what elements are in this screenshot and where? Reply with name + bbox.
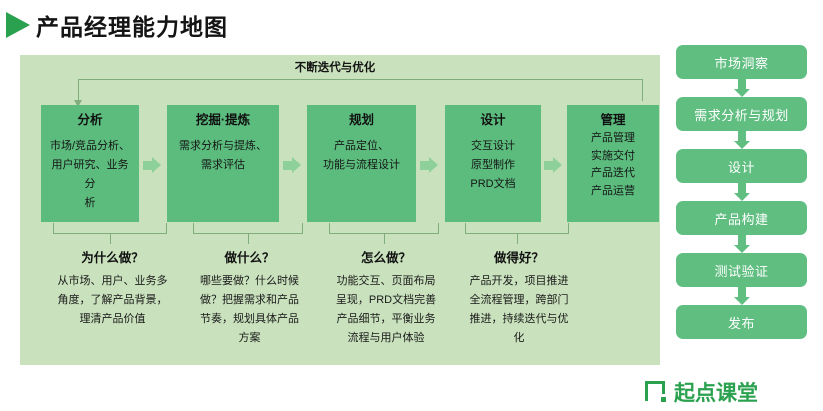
brand-logo-text: 起点课堂 (674, 377, 758, 407)
sidebar-step-product-build[interactable]: 产品构建 (676, 201, 807, 235)
arrow-down-icon (676, 183, 807, 201)
question-line: 角度，了解产品背景， (45, 291, 180, 310)
brace-connector (193, 223, 303, 243)
question-line: 全流程管理，跨部门 (459, 291, 579, 310)
stage-box-design[interactable]: 设计 交互设计 原型制作 PRD文档 (445, 105, 541, 222)
stage-line: 需求评估 (174, 156, 272, 175)
arrow-down-icon (676, 131, 807, 149)
stage-line: 产品运营 (574, 183, 652, 201)
question-line: 功能交互、页面布局 (321, 272, 451, 291)
question-line: 流程与用户体验 (321, 329, 451, 348)
stage-box-mining[interactable]: 挖掘·提炼 需求分析与提炼、 需求评估 (167, 105, 279, 222)
page-title: 产品经理能力地图 (36, 8, 228, 42)
question-line: 化 (459, 329, 579, 348)
question-line: 从市场、用户、业务多 (45, 272, 180, 291)
brace-connector (465, 223, 569, 243)
question-block-well: 做得好？ 产品开发，项目推进 全流程管理，跨部门 推进，持续迭代与优 化 (459, 247, 579, 348)
question-line: 产品细节，平衡业务 (321, 310, 451, 329)
stage-title: 分析 (41, 112, 139, 128)
loop-label: 不断迭代与优化 (275, 60, 395, 77)
stage-line: 产品定位、 (314, 137, 409, 156)
question-title: 怎么做？ (321, 247, 451, 266)
arrow-right-icon (420, 157, 438, 173)
brace-connector (53, 223, 167, 243)
stage-lines: 交互设计 原型制作 PRD文档 (445, 137, 541, 194)
question-body: 哪些要做？什么时候 做？把握需求和产品 节奏，规划具体产品 方案 (187, 272, 312, 348)
question-title: 为什么做？ (45, 247, 180, 266)
sidebar-step-release[interactable]: 发布 (676, 305, 807, 339)
arrow-right-icon (544, 157, 562, 173)
bracket-magnifier-icon (645, 381, 668, 403)
arrow-down-icon (676, 235, 807, 253)
brace-connector (329, 223, 439, 243)
stage-lines: 产品定位、 功能与流程设计 (307, 137, 416, 175)
stage-line: PRD文档 (452, 175, 534, 194)
stage-title: 规划 (307, 112, 416, 128)
sidebar-step-design[interactable]: 设计 (676, 149, 807, 183)
question-block-how: 怎么做？ 功能交互、页面布局 呈现，PRD文档完善 产品细节，平衡业务 流程与用… (321, 247, 451, 348)
capability-map-page: 产品经理能力地图 不断迭代与优化 分析 市场/竞品分析、 用户研究、业务分 析 (0, 0, 823, 411)
stage-line: 原型制作 (452, 156, 534, 175)
arrow-down-icon (676, 287, 807, 305)
sidebar-step-test-verify[interactable]: 测试验证 (676, 253, 807, 287)
question-line: 推进，持续迭代与优 (459, 310, 579, 329)
stage-line: 产品管理 (574, 130, 652, 148)
stage-lines: 市场/竞品分析、 用户研究、业务分 析 (41, 137, 139, 213)
lifecycle-sidebar: 市场洞察 需求分析与规划 设计 产品构建 测试验证 发布 (676, 45, 807, 339)
question-block-what: 做什么？ 哪些要做？什么时候 做？把握需求和产品 节奏，规划具体产品 方案 (187, 247, 312, 348)
stage-line: 功能与流程设计 (314, 156, 409, 175)
question-block-why: 为什么做？ 从市场、用户、业务多 角度，了解产品背景， 理清产品价值 (45, 247, 180, 329)
stage-line: 实施交付 (574, 148, 652, 166)
arrow-right-icon (143, 157, 161, 173)
brand-logo: 起点课堂 (645, 379, 758, 405)
stage-line: 需求分析与提炼、 (174, 137, 272, 156)
main-flow-panel: 不断迭代与优化 分析 市场/竞品分析、 用户研究、业务分 析 挖掘·提炼 需求 (20, 55, 660, 365)
sidebar-step-market-insight[interactable]: 市场洞察 (676, 45, 807, 79)
question-body: 从市场、用户、业务多 角度，了解产品背景， 理清产品价值 (45, 272, 180, 329)
stage-line: 市场/竞品分析、 (48, 137, 132, 156)
arrow-right-icon (283, 157, 301, 173)
question-line: 理清产品价值 (45, 310, 180, 329)
question-line: 呈现，PRD文档完善 (321, 291, 451, 310)
stage-lines: 需求分析与提炼、 需求评估 (167, 137, 279, 175)
brace-connectors (41, 223, 641, 245)
question-line: 做？把握需求和产品 (187, 291, 312, 310)
sidebar-step-requirements-planning[interactable]: 需求分析与规划 (676, 97, 807, 131)
question-line: 哪些要做？什么时候 (187, 272, 312, 291)
question-body: 产品开发，项目推进 全流程管理，跨部门 推进，持续迭代与优 化 (459, 272, 579, 348)
stage-box-management[interactable]: 管理 产品管理 实施交付 产品迭代 产品运营 (567, 105, 659, 222)
question-title: 做什么？ (187, 247, 312, 266)
stage-box-analysis[interactable]: 分析 市场/竞品分析、 用户研究、业务分 析 (41, 105, 139, 222)
stage-line: 交互设计 (452, 137, 534, 156)
question-line: 方案 (187, 329, 312, 348)
stage-line: 用户研究、业务分 (48, 156, 132, 194)
stage-title: 管理 (567, 112, 659, 128)
arrow-down-icon (676, 79, 807, 97)
stage-line: 析 (48, 194, 132, 213)
question-title: 做得好？ (459, 247, 579, 266)
stage-box-planning[interactable]: 规划 产品定位、 功能与流程设计 (307, 105, 416, 222)
triangle-right-icon (6, 12, 30, 38)
question-body: 功能交互、页面布局 呈现，PRD文档完善 产品细节，平衡业务 流程与用户体验 (321, 272, 451, 348)
question-line: 产品开发，项目推进 (459, 272, 579, 291)
question-line: 节奏，规划具体产品 (187, 310, 312, 329)
header: 产品经理能力地图 (0, 0, 823, 50)
stage-line: 产品迭代 (574, 165, 652, 183)
stage-lines: 产品管理 实施交付 产品迭代 产品运营 (567, 130, 659, 200)
stage-title: 设计 (445, 112, 541, 128)
stage-title: 挖掘·提炼 (167, 112, 279, 128)
stage-row: 分析 市场/竞品分析、 用户研究、业务分 析 挖掘·提炼 需求分析与提炼、 需求… (41, 105, 641, 222)
loop-line-right (642, 79, 643, 101)
loop-line-horizontal (78, 79, 643, 80)
